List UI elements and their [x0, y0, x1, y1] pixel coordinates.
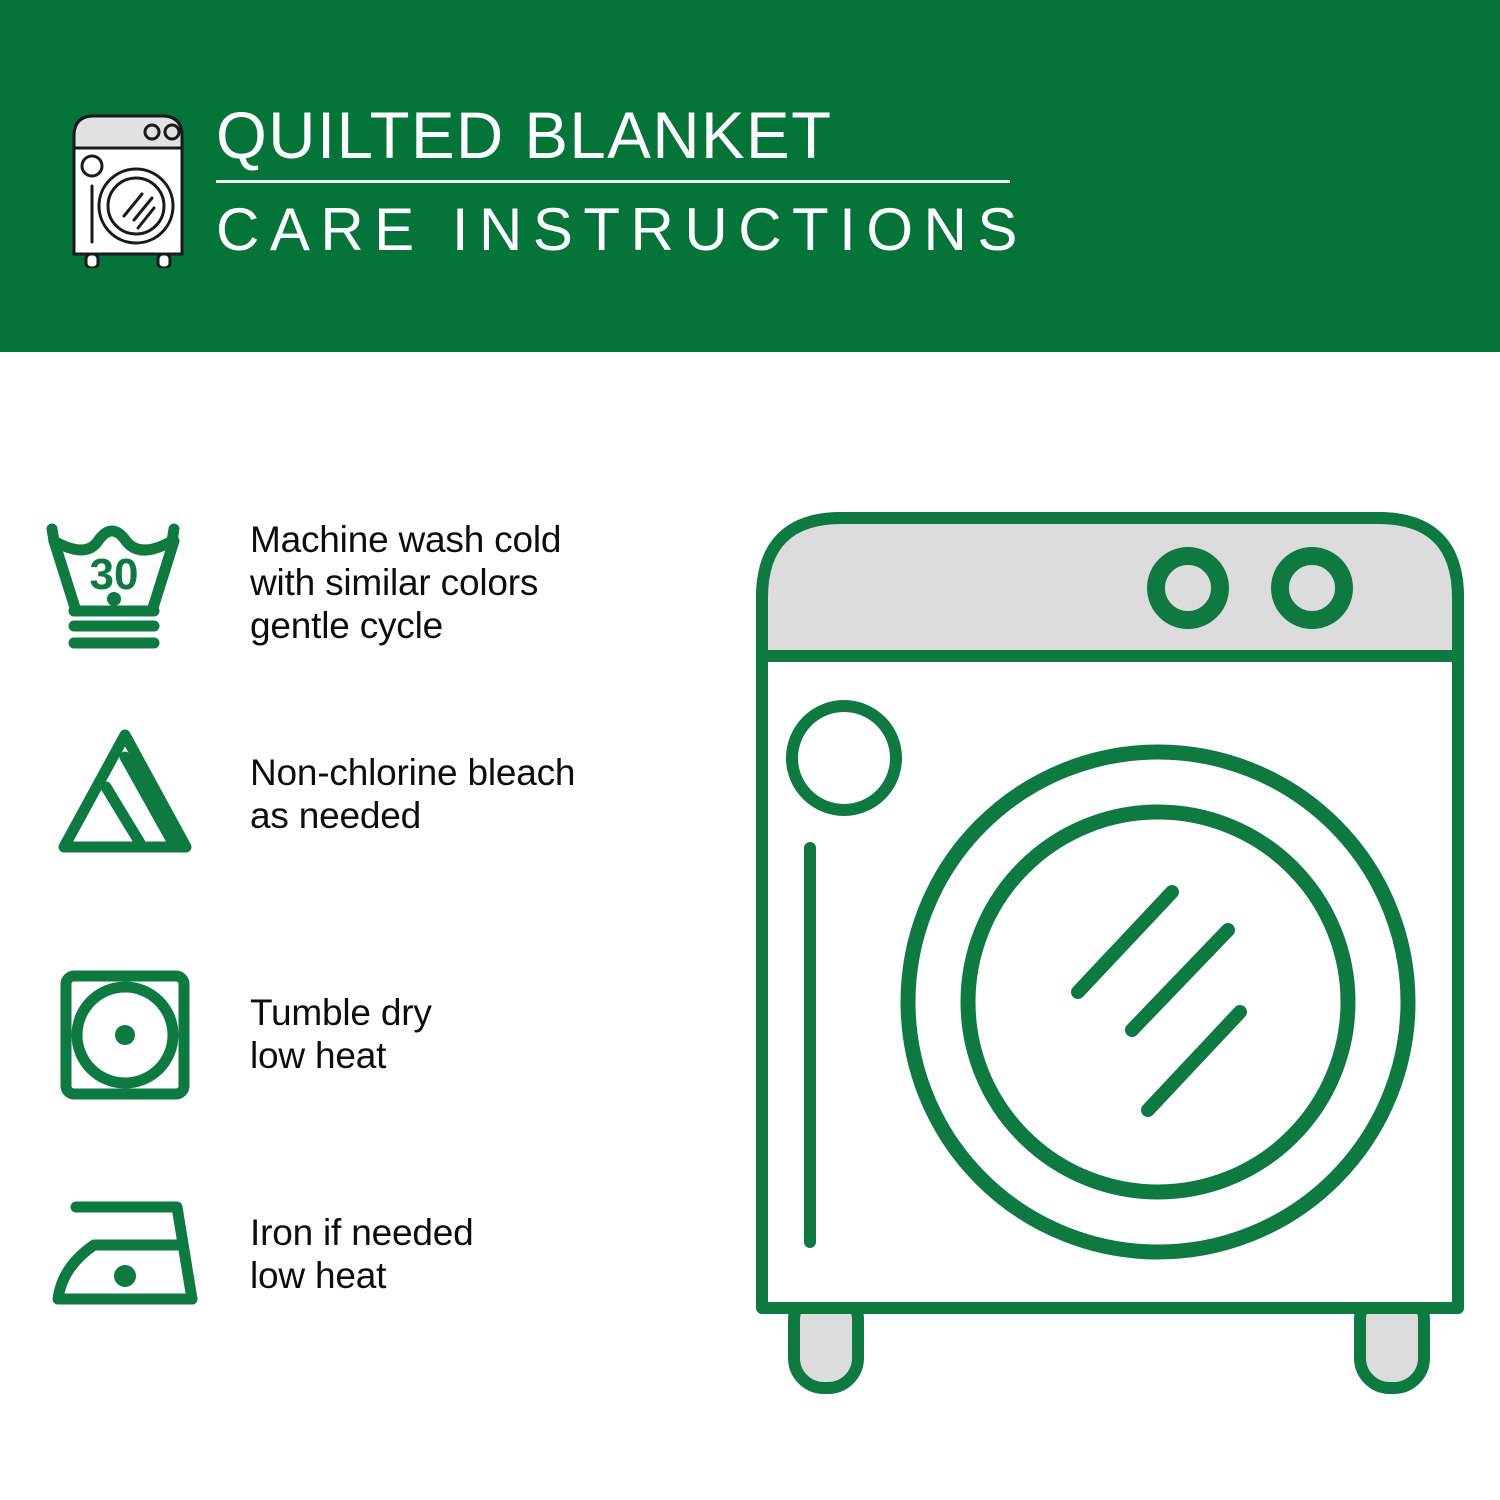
care-label-line: Non-chlorine bleach	[250, 751, 575, 794]
care-label-line: Machine wash cold	[250, 518, 561, 561]
care-label-line: with similar colors	[250, 561, 561, 604]
care-instruction-list: 30 Machine wash cold with similar colors…	[0, 352, 740, 1500]
care-label-line: low heat	[250, 1034, 432, 1077]
header-washing-machine-icon	[64, 104, 192, 268]
care-row-bleach: Non-chlorine bleach as needed	[0, 714, 740, 874]
care-label-line: gentle cycle	[250, 604, 561, 647]
care-row-tumble-dry: Tumble dry low heat	[0, 954, 740, 1114]
care-label-machine-wash: Machine wash cold with similar colors ge…	[250, 518, 561, 647]
tumble-dry-low-icon	[0, 959, 250, 1109]
washing-machine-illustration	[740, 480, 1480, 1440]
care-row-machine-wash: 30 Machine wash cold with similar colors…	[0, 502, 740, 662]
iron-low-heat-icon	[0, 1179, 250, 1329]
care-row-iron: Iron if needed low heat	[0, 1174, 740, 1334]
page-header: QUILTED BLANKET CARE INSTRUCTIONS	[0, 0, 1500, 352]
care-label-tumble-dry: Tumble dry low heat	[250, 991, 432, 1077]
non-chlorine-bleach-icon	[0, 719, 250, 869]
care-label-line: low heat	[250, 1254, 473, 1297]
machine-control-panel	[762, 518, 1458, 656]
wash-temperature-value: 30	[90, 550, 139, 599]
page-subtitle: CARE INSTRUCTIONS	[216, 197, 1016, 263]
care-label-line: Iron if needed	[250, 1211, 473, 1254]
machine-wash-30-gentle-icon: 30	[0, 507, 250, 657]
page-title: QUILTED BLANKET	[216, 98, 1008, 172]
care-label-iron: Iron if needed low heat	[250, 1211, 473, 1297]
header-text-block: QUILTED BLANKET CARE INSTRUCTIONS	[216, 98, 1016, 263]
care-instructions-page: QUILTED BLANKET CARE INSTRUCTIONS	[0, 0, 1500, 1500]
title-divider	[216, 180, 1010, 183]
care-label-line: as needed	[250, 794, 575, 837]
care-label-line: Tumble dry	[250, 991, 432, 1034]
care-label-bleach: Non-chlorine bleach as needed	[250, 751, 575, 837]
